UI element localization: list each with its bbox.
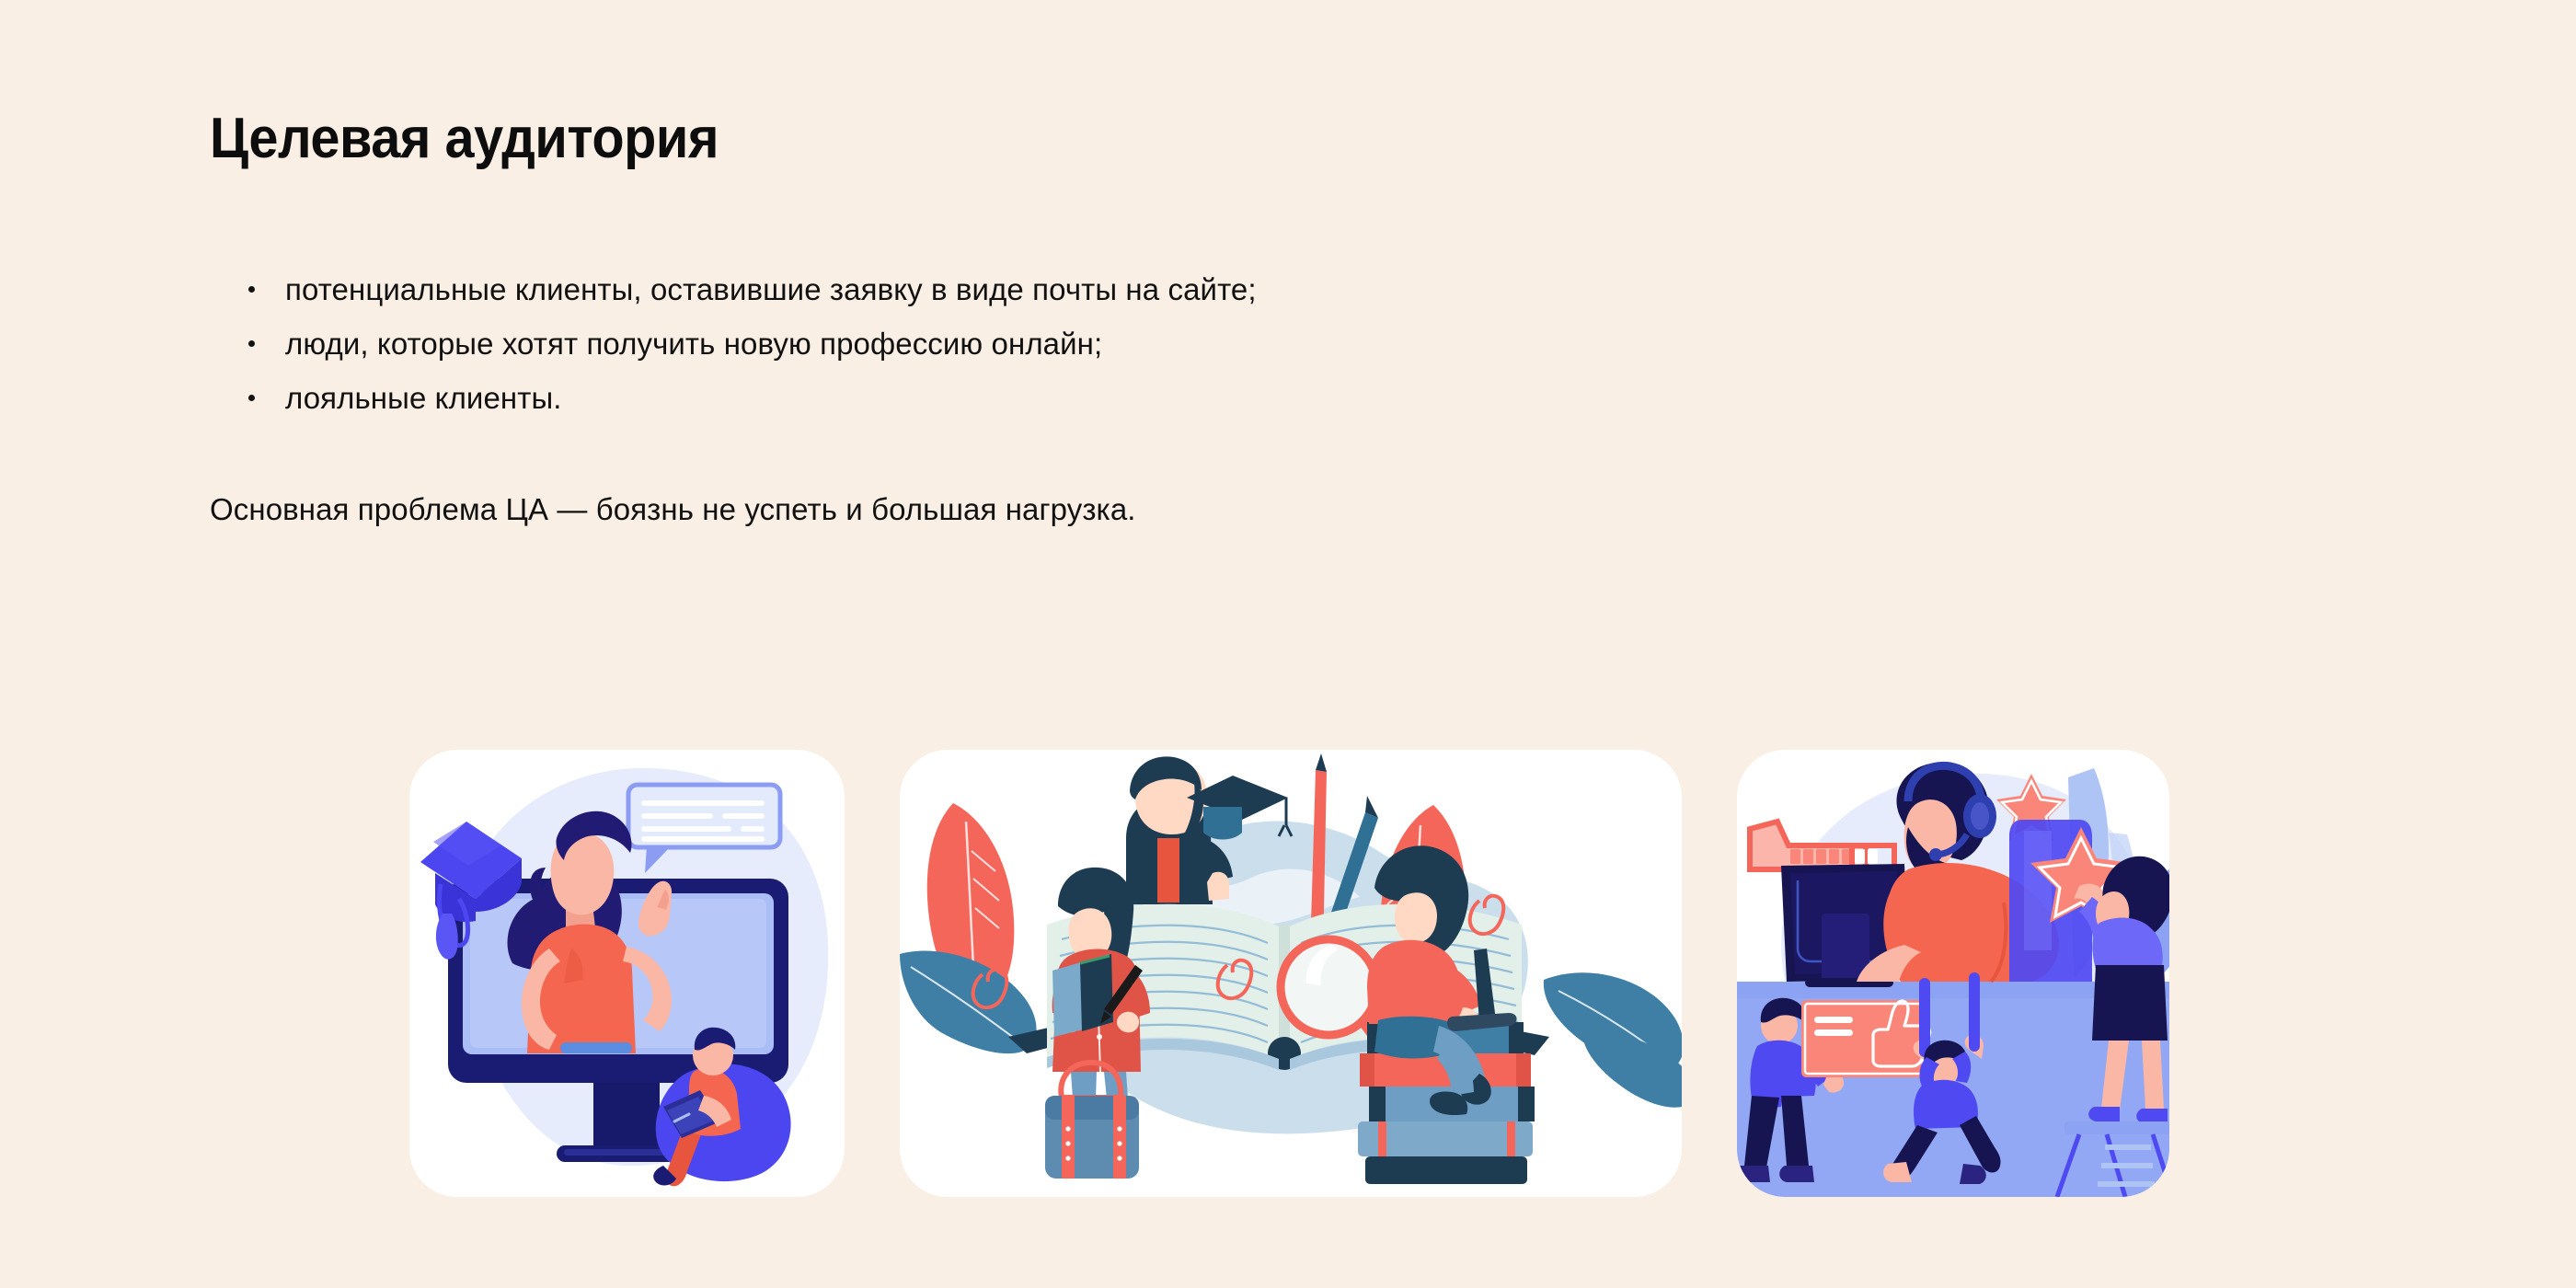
customer-support-feedback-illustration — [1737, 750, 2169, 1197]
open-book-learning-illustration — [900, 750, 1682, 1197]
bullet-dot-icon — [248, 286, 255, 293]
list-item: потенциальные клиенты, оставившие заявку… — [245, 262, 1866, 316]
list-item: люди, которые хотят получить новую профе… — [245, 316, 1866, 371]
illustration-card-online-lecture: Женщина-преподаватель на экране монитора… — [409, 750, 845, 1197]
audience-problem-paragraph: Основная проблема ЦА — боязнь не успеть … — [210, 482, 1167, 536]
list-item-label: потенциальные клиенты, оставившие заявку… — [285, 272, 1257, 306]
bullet-dot-icon — [248, 340, 255, 347]
illustration-card-open-book: Большая раскрытая книга, выпускник с шап… — [900, 750, 1682, 1197]
bullet-dot-icon — [248, 395, 255, 401]
list-item: лояльные клиенты. — [245, 371, 1866, 425]
illustration-card-customer-support: Оператор в наушниках за монитором, карто… — [1737, 750, 2169, 1197]
text-block: Целевая аудитория потенциальные клиенты,… — [210, 109, 1866, 536]
illustration-card-row: Женщина-преподаватель на экране монитора… — [409, 750, 2169, 1197]
slide-root: Целевая аудитория потенциальные клиенты,… — [0, 0, 2576, 1288]
audience-bullet-list: потенциальные клиенты, оставившие заявку… — [245, 262, 1866, 425]
list-item-label: люди, которые хотят получить новую профе… — [285, 327, 1102, 361]
online-lecture-illustration — [409, 750, 845, 1197]
page-title: Целевая аудитория — [210, 109, 1750, 168]
list-item-label: лояльные клиенты. — [285, 381, 562, 415]
